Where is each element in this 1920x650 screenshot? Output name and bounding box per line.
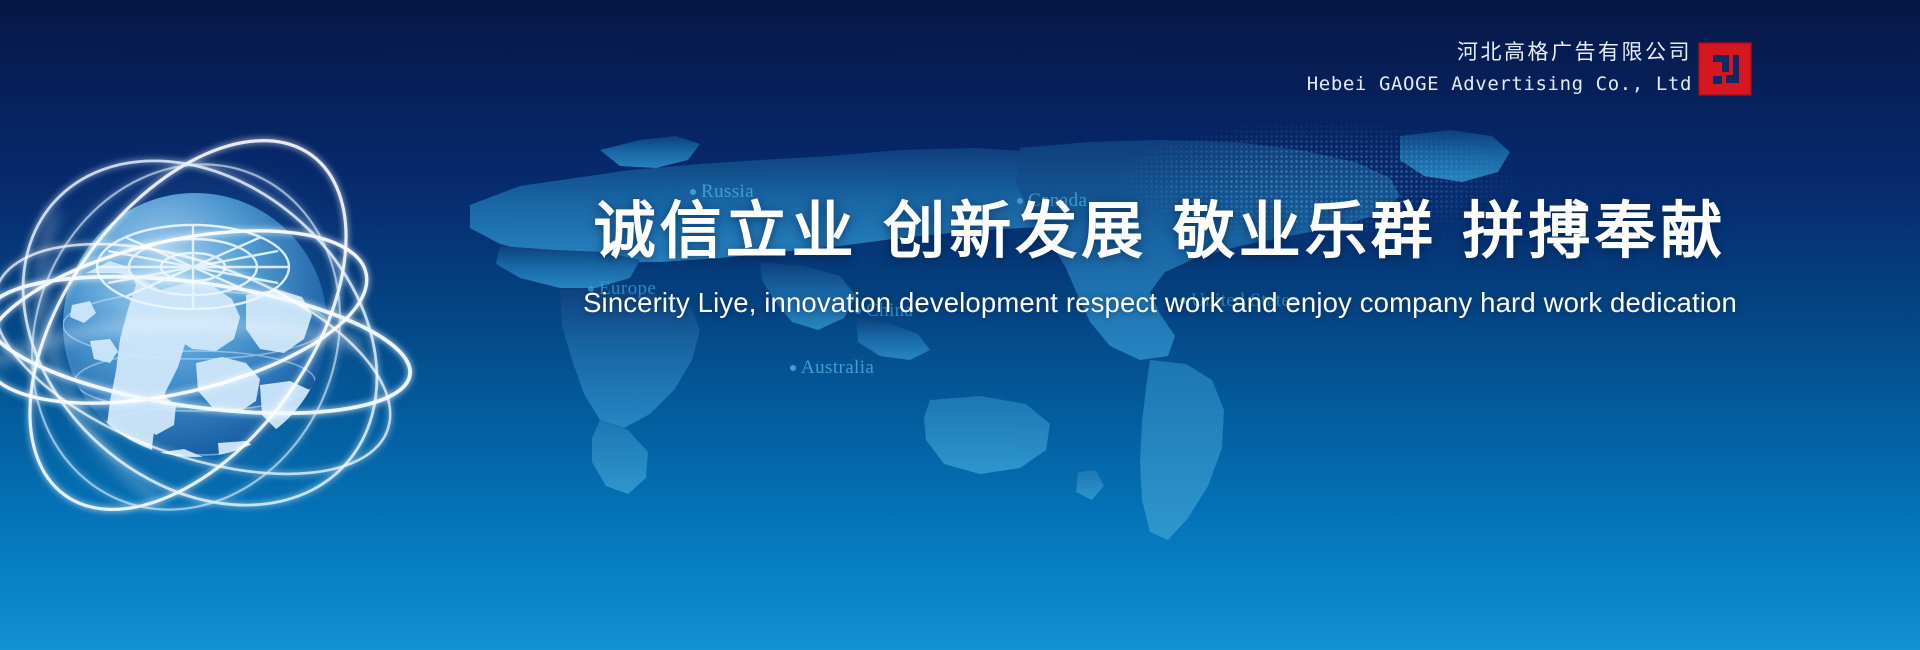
globe-landmass — [70, 261, 318, 495]
map-label-text: Australia — [801, 357, 874, 378]
slogan-english: Sincerity Liye, innovation development r… — [520, 287, 1800, 319]
map-label-dot-icon — [790, 365, 796, 371]
globe-orbit-icon — [0, 95, 430, 545]
slogan-chinese: 诚信立业 创新发展 敬业乐群 拼搏奉献 — [520, 196, 1800, 265]
company-name-cn: 河北高格广告有限公司 — [1307, 38, 1692, 66]
globe-ring-highlights — [0, 211, 360, 501]
globe-latitudes — [63, 291, 327, 455]
company-banner: Russia Canada Europe China United States… — [0, 0, 1920, 650]
company-name-en: Hebei GAOGE Advertising Co., Ltd — [1307, 70, 1692, 99]
map-label-australia: Australia — [790, 357, 874, 379]
globe-orbit-rings — [0, 83, 446, 575]
gaoge-logo-icon — [1698, 42, 1752, 96]
map-landmass-south — [592, 360, 1224, 540]
slogan-block: 诚信立业 创新发展 敬业乐群 拼搏奉献 Sincerity Liye, inno… — [520, 196, 1800, 319]
globe-wireframe — [97, 225, 289, 309]
company-identity: 河北高格广告有限公司 Hebei GAOGE Advertising Co., … — [1307, 38, 1692, 99]
